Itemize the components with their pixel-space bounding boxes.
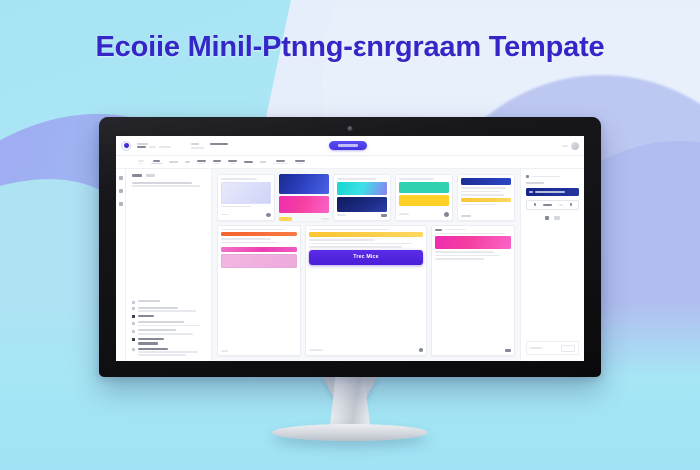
- card-gold-bar[interactable]: Trec Mice: [305, 225, 427, 356]
- stat-item: [169, 161, 178, 163]
- list-item-marker: [132, 322, 135, 325]
- nav-subitem[interactable]: [149, 146, 156, 148]
- card-footer: [461, 215, 511, 217]
- stat-item: [273, 160, 288, 165]
- list-item-marker: [132, 301, 135, 304]
- card-header-row: [435, 229, 511, 231]
- list-item[interactable]: [132, 315, 205, 319]
- card-thumbnail-magenta: [279, 196, 329, 213]
- app-window: Trec Mice: [116, 136, 584, 361]
- card-badge-yellow: [279, 217, 292, 221]
- card-action-icon[interactable]: [419, 348, 423, 352]
- list-item[interactable]: [132, 329, 205, 334]
- card-thumbnail-navy: [279, 174, 329, 194]
- card-footer: [221, 213, 271, 217]
- monitor-stand-neck-sheen: [330, 376, 370, 426]
- card-magenta-gradient[interactable]: [431, 225, 515, 356]
- list-item[interactable]: [132, 321, 205, 326]
- document-panel-subtitle: [146, 174, 155, 176]
- card-teal-yellow-badges[interactable]: [395, 174, 453, 221]
- page-title: Ecoiie Minil-Ptnng-εnrgraam Tempate: [0, 31, 700, 64]
- list-item[interactable]: [132, 307, 205, 312]
- card-badge-teal: [399, 182, 449, 193]
- list-item-label: [138, 338, 205, 345]
- app-topbar: [116, 136, 584, 156]
- card-footer: [309, 348, 423, 352]
- side-panel-subtitle: [526, 182, 544, 184]
- stat-item: [228, 160, 237, 165]
- nav-subitem-active[interactable]: [137, 146, 146, 148]
- nav-subitem[interactable]: [191, 147, 204, 149]
- card-accent-pink: [221, 247, 297, 252]
- user-avatar[interactable]: [571, 142, 579, 150]
- stat-item: [295, 160, 305, 165]
- primary-cta-button[interactable]: [329, 141, 367, 149]
- card-thumbnail-cyan: [337, 182, 387, 195]
- nav-item-label[interactable]: [191, 143, 199, 145]
- dot-icon[interactable]: [119, 202, 123, 206]
- sidebar-icon-rail: [116, 169, 126, 361]
- card-badge-yellow-large: [399, 195, 449, 206]
- card-thumbnail-pink-grid: [221, 254, 297, 268]
- card-thumbnail-darkblue: [337, 197, 387, 212]
- side-panel-footer-card[interactable]: [526, 341, 579, 355]
- card-footer: [399, 212, 449, 217]
- document-list-panel: [126, 169, 212, 361]
- card-footer: [435, 349, 511, 352]
- list-item-label: [138, 315, 205, 318]
- side-panel-footer-thumb: [561, 345, 575, 352]
- list-item-label: [138, 321, 205, 326]
- check-icon[interactable]: [554, 216, 560, 220]
- card-action-icon[interactable]: [444, 212, 449, 217]
- template-card-grid: Trec Mice: [212, 169, 520, 361]
- primary-cta-label: [338, 144, 358, 146]
- list-item-label: [138, 329, 205, 334]
- app-body: Trec Mice: [116, 169, 584, 361]
- card-cyan-darkblue[interactable]: [333, 174, 391, 221]
- side-panel-header: [526, 175, 579, 178]
- nav-group-secondary: [191, 143, 228, 149]
- card-row: Trec Mice: [217, 225, 515, 356]
- card-thumbnail: [221, 182, 271, 204]
- stat-item: [244, 161, 253, 163]
- stat-item: [185, 161, 190, 163]
- document-intro: [132, 182, 205, 295]
- nav-subitem[interactable]: [159, 146, 171, 148]
- list-item-marker: [132, 348, 135, 351]
- list-item-marker: [132, 315, 135, 318]
- monitor-mockup: Trec Mice: [99, 117, 601, 377]
- webcam-dot-icon: [348, 126, 353, 131]
- card-thumbnail-magenta: [435, 236, 511, 249]
- grid-view-icon[interactable]: [545, 216, 549, 220]
- card-row: [217, 174, 515, 221]
- card-footer: [221, 350, 297, 352]
- nav-row-bottom: [137, 146, 171, 148]
- card-footer: [279, 217, 329, 221]
- list-item-marker: [132, 338, 135, 341]
- monitor-screen: Trec Mice: [116, 136, 584, 361]
- stat-item: [213, 160, 221, 165]
- list-item-label: [138, 307, 205, 312]
- card-footer: [337, 214, 387, 217]
- side-panel-actions: [526, 216, 579, 220]
- nav-item-emphasis[interactable]: [210, 143, 228, 146]
- trec-mice-button[interactable]: Trec Mice: [309, 250, 423, 265]
- stat-item: [138, 160, 144, 165]
- stat-summary-bar: [116, 156, 584, 169]
- list-item[interactable]: [132, 338, 205, 345]
- nav-item-label[interactable]: [137, 143, 148, 145]
- card-blue-header-doc[interactable]: [457, 174, 515, 221]
- card-progress-orange: [221, 232, 297, 236]
- nav-row-top: [137, 143, 171, 145]
- nav-row-top: [191, 143, 228, 146]
- list-item[interactable]: [132, 300, 205, 304]
- stat-item: [197, 160, 206, 165]
- document-panel-title: [132, 174, 142, 177]
- card-highlight-bar: [461, 198, 511, 202]
- card-progress-gold: [309, 232, 423, 237]
- side-panel-input[interactable]: [526, 188, 579, 196]
- document-panel-header: [132, 174, 205, 177]
- card-navy-magenta[interactable]: [279, 174, 329, 221]
- card-orange-bar[interactable]: [217, 225, 301, 356]
- monitor-stand-base: [272, 424, 428, 441]
- stat-item: [260, 161, 266, 163]
- right-detail-panel: [520, 169, 584, 361]
- nav-row-bottom: [191, 147, 228, 149]
- plus-icon[interactable]: [119, 189, 123, 193]
- card-lavender-doc[interactable]: [217, 174, 275, 221]
- app-logo-icon[interactable]: [121, 141, 131, 151]
- side-panel-stepper[interactable]: [526, 200, 579, 210]
- list-item-marker: [132, 330, 135, 333]
- grid-icon[interactable]: [119, 176, 123, 180]
- list-item-label: [138, 300, 205, 302]
- list-item-label: [138, 348, 205, 356]
- list-item[interactable]: [132, 348, 205, 356]
- stat-item: [151, 160, 162, 165]
- card-action-icon[interactable]: [266, 213, 271, 217]
- list-item-marker: [132, 307, 135, 310]
- card-header-bar: [461, 178, 511, 185]
- topbar-meta-label: [562, 145, 568, 147]
- nav-group-primary: [137, 143, 171, 149]
- topbar-right-group: [562, 142, 579, 150]
